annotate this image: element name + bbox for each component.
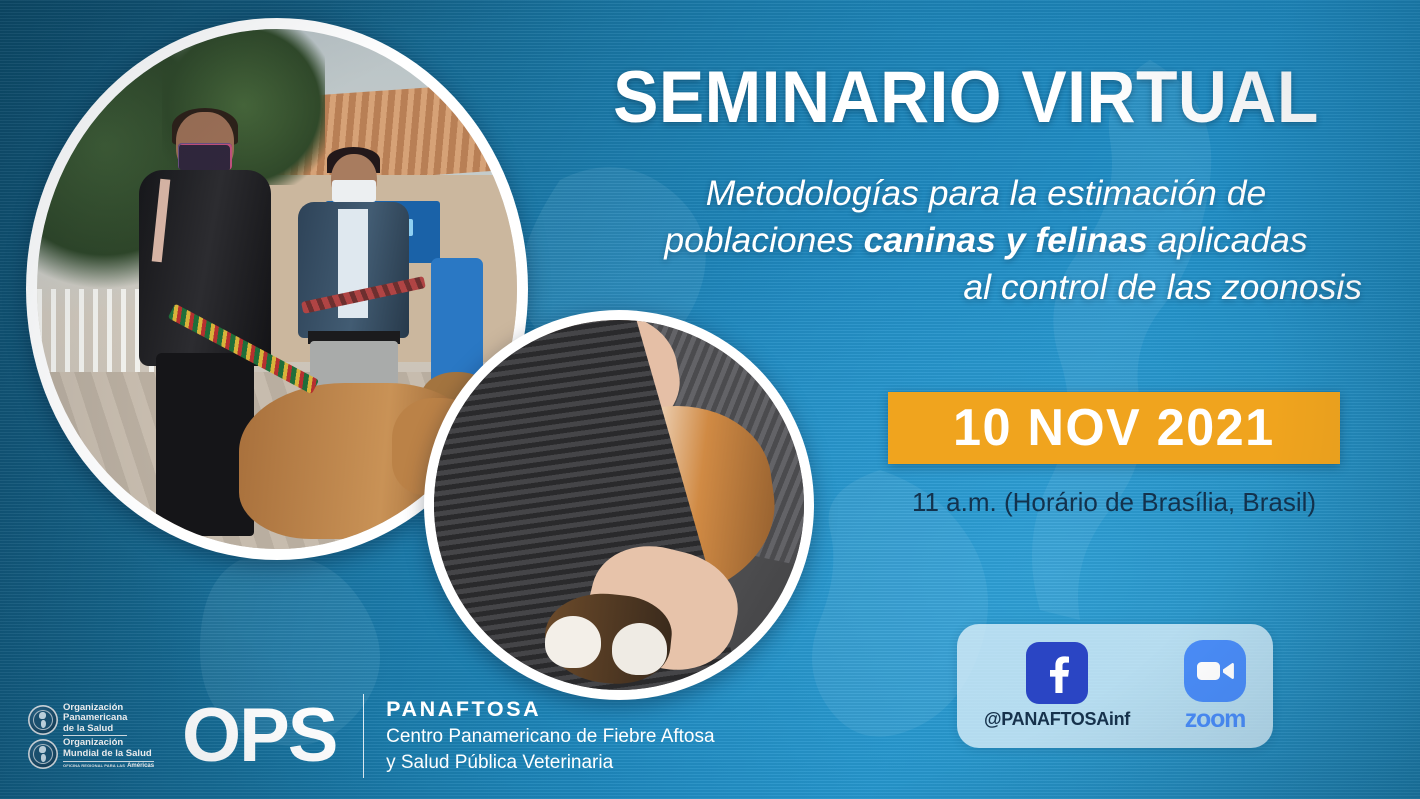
subtitle-line-2-c: aplicadas	[1148, 220, 1308, 260]
date-badge: 10 NOV 2021	[888, 392, 1340, 464]
date-badge-label: 10 NOV 2021	[953, 398, 1275, 458]
zoom-link[interactable]: zoom	[1184, 640, 1246, 732]
time-line: 11 a.m. (Horário de Brasília, Brasil)	[888, 487, 1340, 518]
photo-circle-cat	[424, 310, 814, 700]
social-links-card: @PANAFTOSAinf zoom	[957, 624, 1273, 748]
facebook-handle: @PANAFTOSAinf	[984, 709, 1130, 730]
paho-emblem-row: Organización Panamericana de la Salud	[28, 703, 156, 737]
panaftosa-block: PANAFTOSA Centro Panamericano de Fiebre …	[386, 697, 714, 774]
who-line-2: Mundial de la Salud	[63, 749, 154, 762]
paho-who-emblem-block: Organización Panamericana de la Salud Or…	[28, 703, 156, 770]
subtitle: Metodologías para la estimación de pobla…	[576, 170, 1396, 312]
who-emblem-row: Organización Mundial de la Salud OFICINA…	[28, 738, 156, 769]
facebook-icon[interactable]	[1026, 642, 1088, 704]
paho-line-3: de la Salud	[63, 724, 127, 737]
subtitle-emphasis: caninas y felinas	[864, 220, 1148, 260]
subtitle-line-2: poblaciones caninas y felinas aplicadas	[576, 217, 1396, 264]
panaftosa-subtitle-2: y Salud Pública Veterinaria	[386, 751, 714, 775]
page-title: SEMINARIO VIRTUAL	[577, 62, 1354, 134]
subtitle-line-2-a: poblaciones	[664, 220, 863, 260]
zoom-label: zoom	[1185, 707, 1245, 732]
footer-divider	[363, 694, 365, 778]
paho-emblem-text: Organización Panamericana de la Salud	[63, 703, 127, 737]
who-seal-icon	[28, 739, 58, 769]
ops-wordmark: OPS	[182, 704, 337, 768]
region-prefix: OFICINA REGIONAL PARA LAS	[63, 764, 125, 768]
panaftosa-title: PANAFTOSA	[386, 697, 714, 723]
facebook-link[interactable]: @PANAFTOSAinf	[984, 642, 1130, 730]
subtitle-line-1: Metodologías para la estimación de	[576, 170, 1396, 217]
photo-person-holding-calico-cat	[434, 320, 804, 690]
subtitle-line-3: al control de las zoonosis	[576, 264, 1396, 311]
region-name: Américas	[127, 763, 154, 770]
panaftosa-subtitle-1: Centro Panamericano de Fiebre Aftosa	[386, 725, 714, 749]
seminar-promo-poster: SEMINARIO VIRTUAL Metodologías para la e…	[0, 0, 1420, 799]
footer-logos: Organización Panamericana de la Salud Or…	[28, 694, 715, 778]
who-emblem-text: Organización Mundial de la Salud OFICINA…	[63, 738, 154, 769]
zoom-video-icon[interactable]	[1184, 640, 1246, 702]
paho-seal-icon	[28, 705, 58, 735]
regional-office-line: OFICINA REGIONAL PARA LAS Américas	[63, 763, 154, 770]
